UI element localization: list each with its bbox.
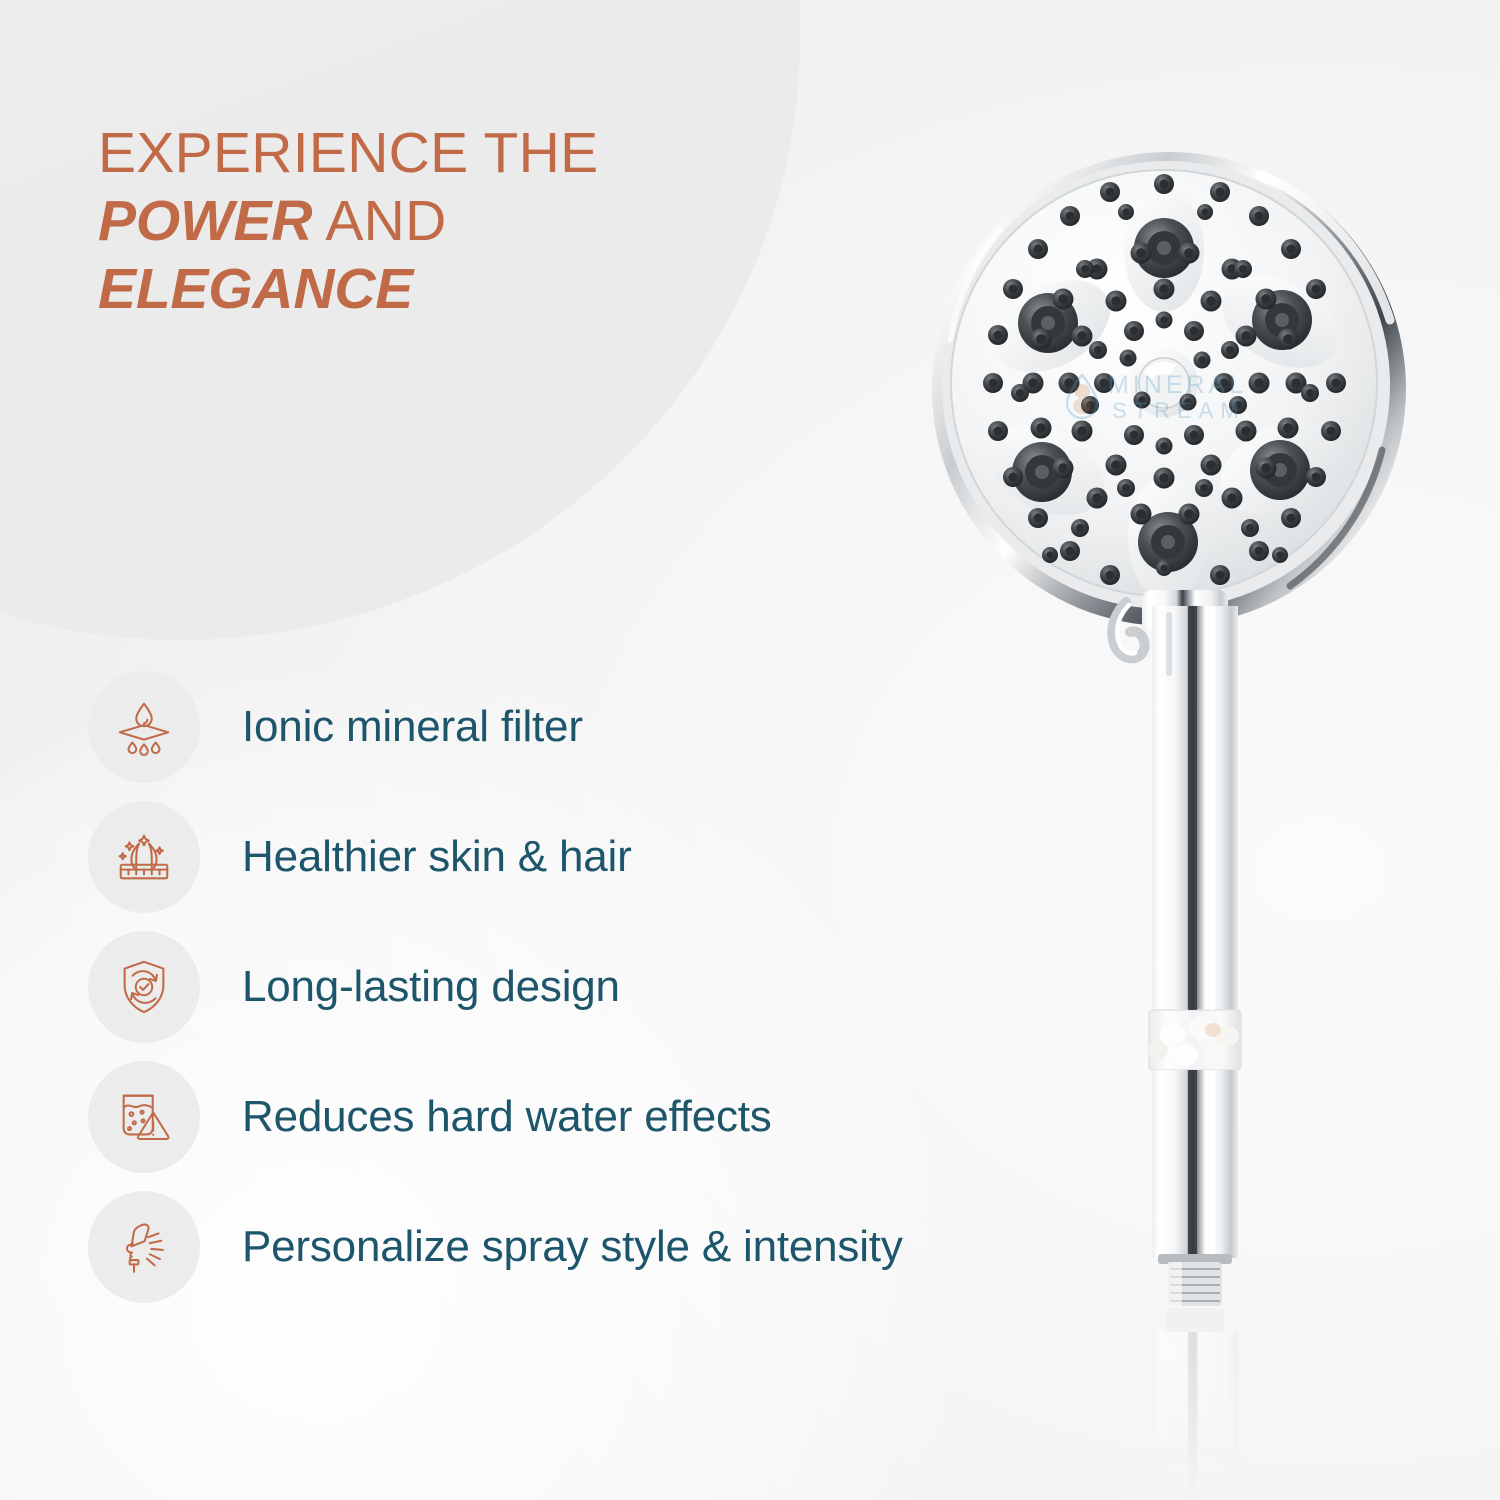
headline-emphasis-power: POWER (98, 189, 312, 253)
feature-label: Healthier skin & hair (242, 832, 632, 882)
marketing-canvas: EXPERIENCE THE POWER AND ELEGANCE Ionic … (0, 0, 1500, 1500)
headline-line-2: POWER AND (98, 188, 738, 256)
feature-item-personalize-spray: Personalize spray style & intensity (88, 1182, 1048, 1312)
headline-block: EXPERIENCE THE POWER AND ELEGANCE (98, 120, 738, 323)
feature-item-long-lasting-design: Long-lasting design (88, 922, 1048, 1052)
feature-item-ionic-mineral-filter: Ionic mineral filter (88, 662, 1048, 792)
feature-label: Long-lasting design (242, 962, 620, 1012)
feature-item-healthier-skin-hair: Healthier skin & hair (88, 792, 1048, 922)
handheld-shower-spray-icon (88, 1191, 200, 1303)
feature-label: Ionic mineral filter (242, 702, 583, 752)
handle-barrel (1148, 606, 1241, 1258)
headline-line-1: EXPERIENCE THE (98, 120, 738, 188)
headline-line-3: ELEGANCE (98, 256, 738, 324)
headline-emphasis-elegance: ELEGANCE (98, 257, 413, 321)
feature-label: Reduces hard water effects (242, 1092, 772, 1142)
feature-item-reduces-hard-water: Reduces hard water effects (88, 1052, 1048, 1182)
shield-refresh-check-icon (88, 931, 200, 1043)
mineral-filter-droplet-icon (88, 671, 200, 783)
hard-water-beaker-warning-icon (88, 1061, 200, 1173)
feature-list: Ionic mineral filter Healthier skin & ha… (88, 662, 1048, 1312)
headline-line-2-rest: AND (312, 189, 446, 253)
feature-label: Personalize spray style & intensity (242, 1222, 903, 1272)
threaded-connector (1158, 1254, 1232, 1306)
product-reflection (1149, 1308, 1241, 1500)
skin-hair-follicle-sparkle-icon (88, 801, 200, 913)
shower-face-group (932, 152, 1406, 626)
